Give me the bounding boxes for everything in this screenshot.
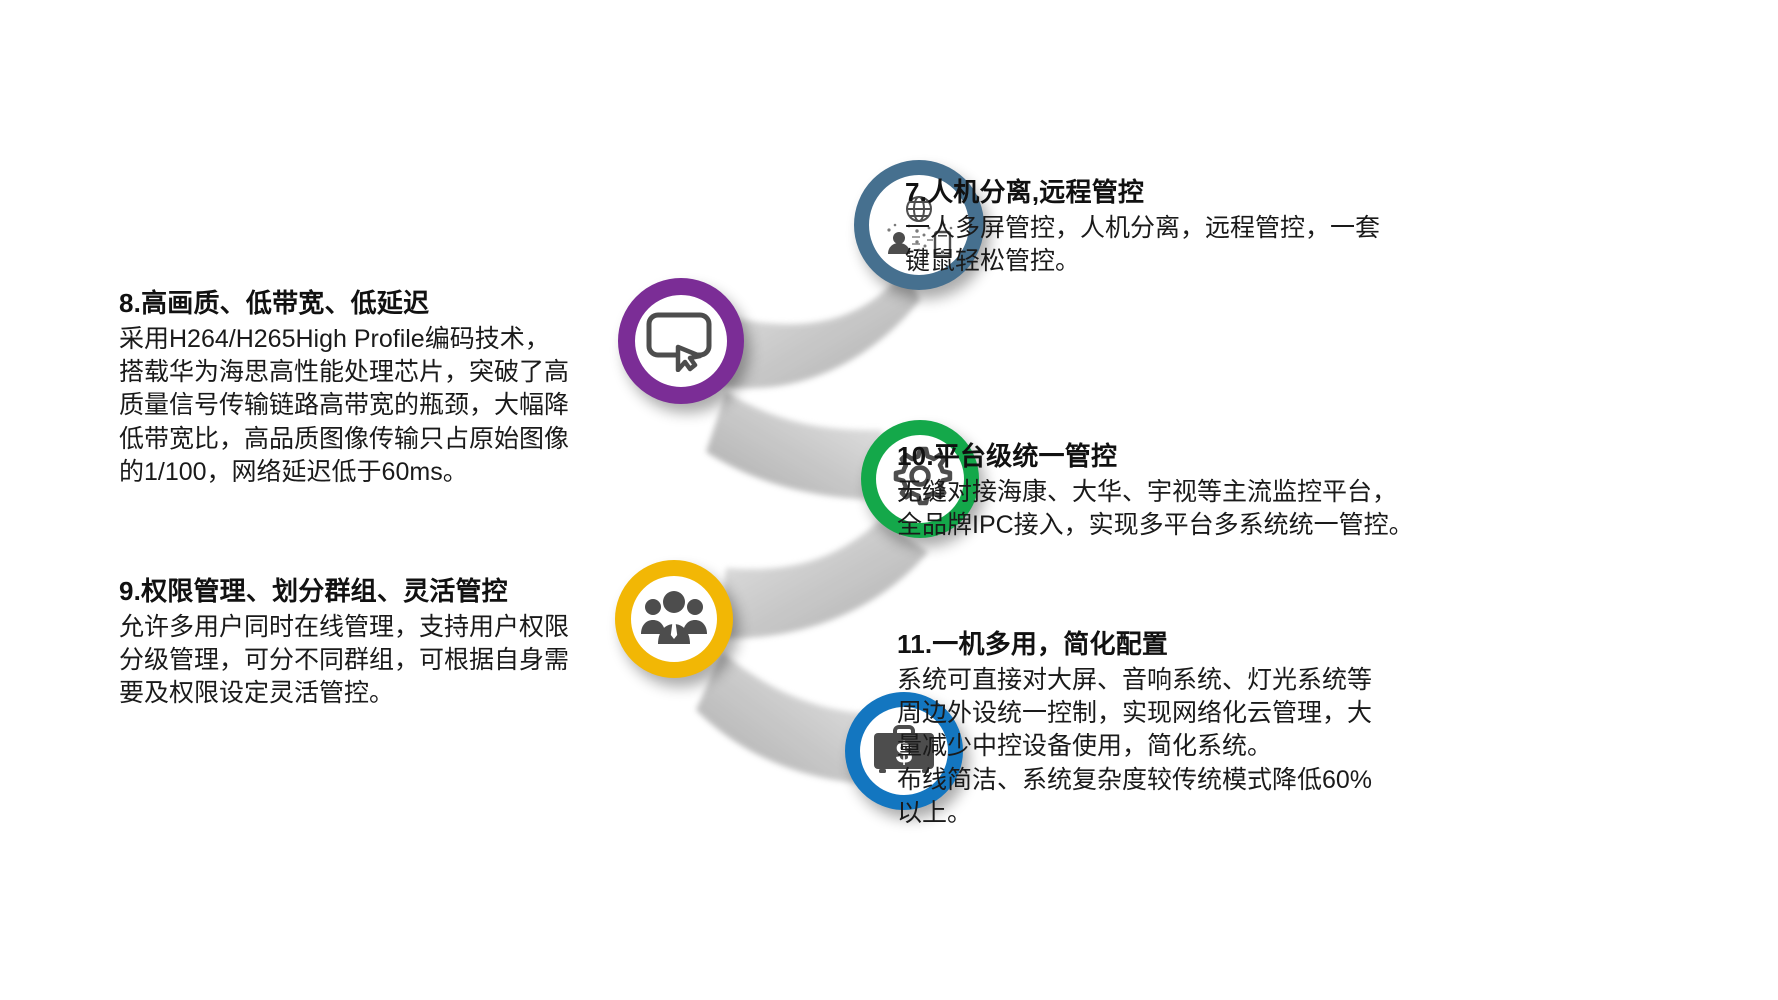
item-text-10: 10.平台级统一管控 无缝对接海康、大华、宇视等主流监控平台， 全品牌IPC接入… xyxy=(897,440,1517,542)
item-title-8: 8.高画质、低带宽、低延迟 xyxy=(119,287,624,321)
infographic-canvas: $ 7.人机分离,远程管控 一人多屏管控，人机分离，远程管控，一套 键鼠轻松管控… xyxy=(0,0,1778,1000)
node-circle-9[interactable] xyxy=(615,560,733,678)
item-body-9: 允许多用户同时在线管理，支持用户权限 分级管理，可分不同群组，可根据自身需 要及… xyxy=(119,611,624,711)
item-text-7: 7.人机分离,远程管控 一人多屏管控，人机分离，远程管控，一套 键鼠轻松管控。 xyxy=(905,176,1465,278)
item-text-8: 8.高画质、低带宽、低延迟 采用H264/H265High Profile编码技… xyxy=(119,287,624,489)
item-title-11: 11.一机多用，简化配置 xyxy=(897,628,1437,662)
item-title-9: 9.权限管理、划分群组、灵活管控 xyxy=(119,575,624,609)
item-text-9: 9.权限管理、划分群组、灵活管控 允许多用户同时在线管理，支持用户权限 分级管理… xyxy=(119,575,624,711)
item-body-8: 采用H264/H265High Profile编码技术， 搭载华为海思高性能处理… xyxy=(119,323,624,489)
item-body-7: 一人多屏管控，人机分离，远程管控，一套 键鼠轻松管控。 xyxy=(905,212,1465,279)
monitor-cursor-icon xyxy=(644,310,718,372)
item-title-7: 7.人机分离,远程管控 xyxy=(905,176,1465,210)
item-text-11: 11.一机多用，简化配置 系统可直接对大屏、音响系统、灯光系统等 周边外设统一控… xyxy=(897,628,1437,830)
item-body-10: 无缝对接海康、大华、宇视等主流监控平台， 全品牌IPC接入，实现多平台多系统统一… xyxy=(897,476,1517,543)
item-body-11: 系统可直接对大屏、音响系统、灯光系统等 周边外设统一控制，实现网络化云管理，大 … xyxy=(897,664,1437,830)
item-title-10: 10.平台级统一管控 xyxy=(897,440,1517,474)
user-group-icon xyxy=(640,590,708,648)
node-circle-8[interactable] xyxy=(618,278,744,404)
